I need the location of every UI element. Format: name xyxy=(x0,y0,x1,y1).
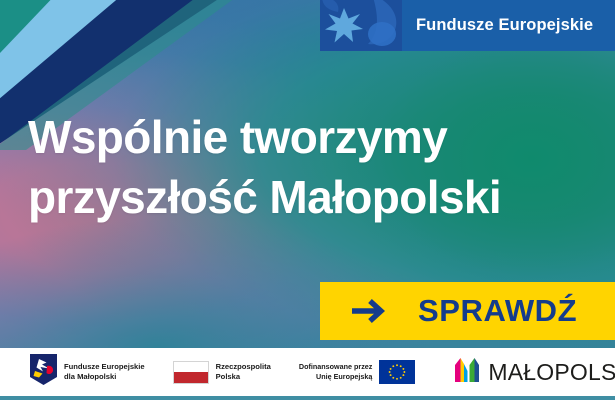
logo-fundusze-europejskie-dla-malopolski: Fundusze Europejskie dla Małopolski xyxy=(30,354,145,390)
sprawdz-button-label: SPRAWDŹ xyxy=(418,293,577,329)
malopolska-wordmark: MAŁOPOLSKA xyxy=(488,359,615,386)
logo-poland-text: Rzeczpospolita Polska xyxy=(216,362,271,383)
fe-flag-icon xyxy=(30,354,57,390)
logo-fe-line-2: dla Małopolski xyxy=(64,372,116,381)
headline-line-1: Wspólnie tworzymy xyxy=(28,108,603,168)
logo-poland-line-2: Polska xyxy=(216,372,240,381)
logo-fe-line-1: Fundusze Europejskie xyxy=(64,362,145,371)
malopolska-m-icon xyxy=(453,357,481,388)
eu-flag-icon xyxy=(379,360,415,384)
footer-logo-bar: Fundusze Europejskie dla Małopolski Rzec… xyxy=(0,348,615,400)
logo-poland-line-1: Rzeczpospolita xyxy=(216,362,271,371)
logo-rzeczpospolita-polska: Rzeczpospolita Polska xyxy=(173,361,271,384)
logo-dofinansowane-przez-unie-europejska: Dofinansowane przez Unię Europejską xyxy=(299,360,415,384)
logo-fe-malopolska-text: Fundusze Europejskie dla Małopolski xyxy=(64,362,145,383)
headline-line-2: przyszłość Małopolski xyxy=(28,168,603,228)
poland-flag-icon xyxy=(173,361,209,384)
logo-malopolska: MAŁOPOLSKA xyxy=(453,357,615,388)
fundusze-europejskie-label: Fundusze Europejskie xyxy=(416,16,593,35)
promotional-banner: Fundusze Europejskie Wspólnie tworzymy p… xyxy=(0,0,615,400)
arrow-right-icon xyxy=(350,298,388,324)
logo-eu-line-1: Dofinansowane przez xyxy=(299,362,372,371)
page-title: Wspólnie tworzymy przyszłość Małopolski xyxy=(28,108,603,228)
eu-stars-icon xyxy=(320,0,402,51)
sprawdz-button[interactable]: SPRAWDŹ xyxy=(320,282,615,340)
fundusze-europejskie-banner: Fundusze Europejskie xyxy=(320,0,615,51)
logo-eu-text: Dofinansowane przez Unię Europejską xyxy=(299,362,372,382)
logo-eu-line-2: Unię Europejską xyxy=(316,372,372,381)
